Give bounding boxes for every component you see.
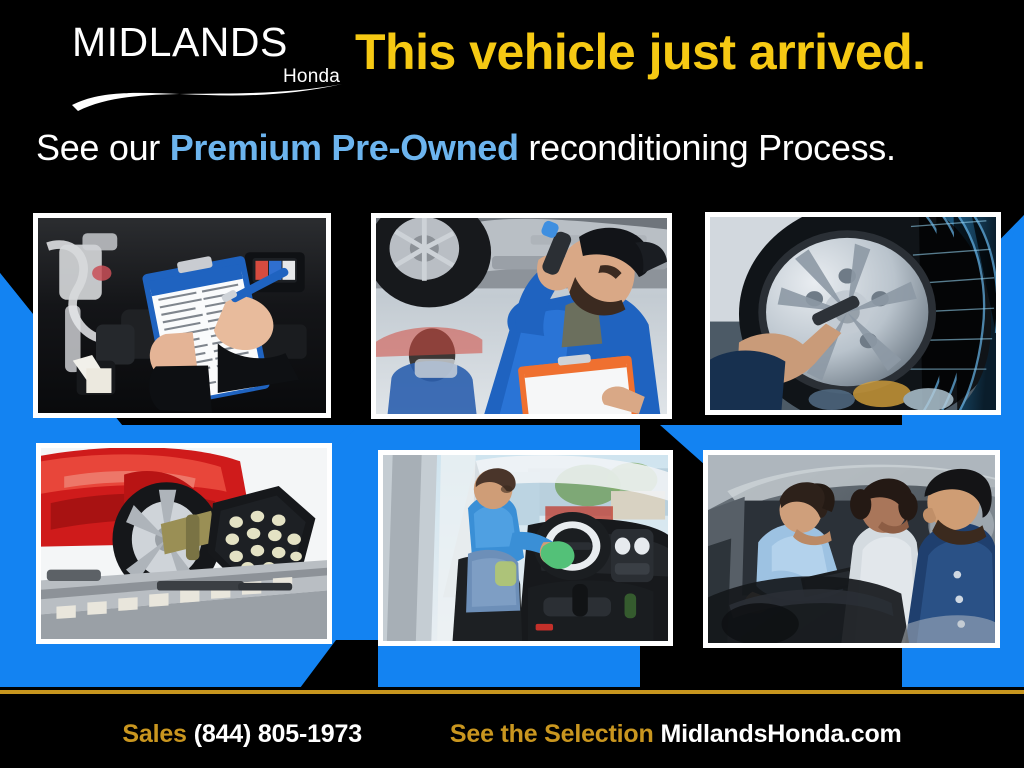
- sales-label: Sales: [122, 720, 186, 748]
- honda-swoosh-icon: [68, 78, 346, 112]
- website-link[interactable]: MidlandsHonda.com: [661, 720, 902, 748]
- footer-separator-dark: [0, 687, 1024, 689]
- undercarriage-inspection-photo: [371, 213, 672, 419]
- see-the-selection-label: See the Selection: [450, 720, 654, 748]
- sales-phone[interactable]: (844) 805-1973: [194, 720, 362, 748]
- footer-contact-row: Sales(844) 805-1973See the SelectionMidl…: [0, 720, 1024, 749]
- subhead-suffix: reconditioning Process.: [519, 127, 896, 168]
- black-chevron-notch: [640, 646, 900, 688]
- tire-wheel-service-photo: [705, 212, 1001, 415]
- black-wedge-bottom-left: [300, 640, 378, 688]
- customer-delivery-photo: [703, 450, 1000, 648]
- logo-wordmark: MIDLANDS: [72, 22, 288, 63]
- midlands-honda-logo[interactable]: MIDLANDS Honda: [72, 22, 342, 100]
- wheel-alignment-photo: [36, 443, 332, 644]
- banner-footer: Sales(844) 805-1973See the SelectionMidl…: [0, 694, 1024, 768]
- subheadline: See our Premium Pre-Owned reconditioning…: [36, 128, 896, 168]
- headline-text: This vehicle just arrived.: [355, 26, 926, 79]
- interior-detailing-photo: [378, 450, 673, 646]
- multi-point-inspection-photo: [33, 213, 331, 418]
- subhead-highlight: Premium Pre-Owned: [170, 127, 519, 168]
- promo-banner: MIDLANDS Honda This vehicle just arrived…: [0, 0, 1024, 768]
- subhead-prefix: See our: [36, 127, 170, 168]
- banner-header: MIDLANDS Honda This vehicle just arrived…: [0, 0, 1024, 190]
